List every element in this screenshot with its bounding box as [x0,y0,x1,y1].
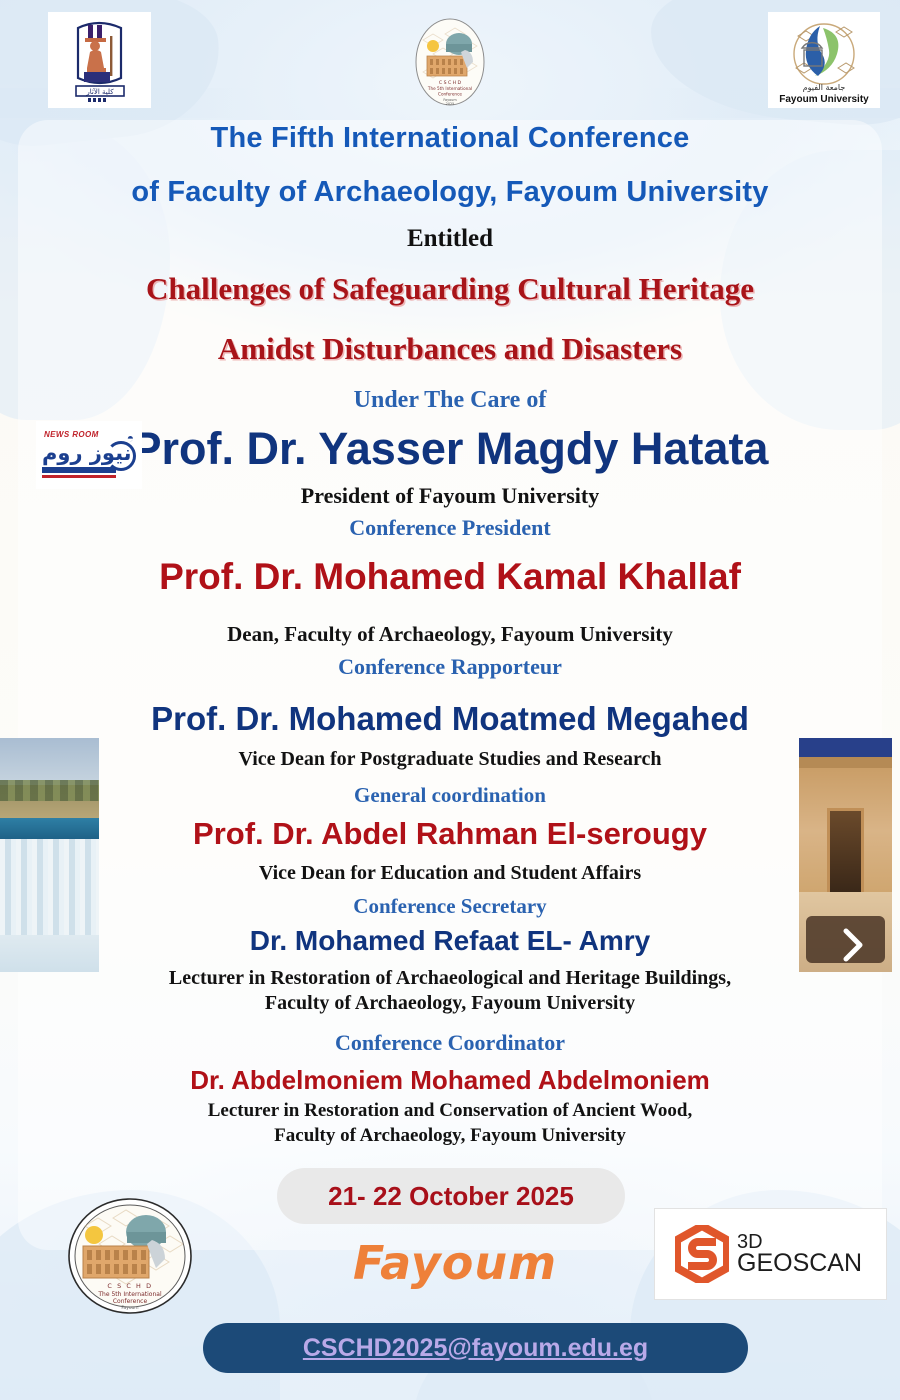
person-position-4: Vice Dean for Education and Student Affa… [0,862,900,885]
conference-theme-line1: Challenges of Safeguarding Cultural Heri… [0,271,900,307]
conference-title-line1: The Fifth International Conference [0,122,900,155]
person-name-2: Prof. Dr. Mohamed Kamal Khallaf [0,556,900,598]
news-room-top-text: NEWS ROOM [44,430,99,439]
geoscan-hex-icon [675,1225,729,1283]
conference-seal-logo: C S C H D The 5th International Conferen… [411,16,489,108]
news-room-arabic-text: نيوز روم [42,441,132,465]
conference-date-badge: 21- 22 October 2025 [277,1168,625,1224]
logo-row: كلية الآثار [0,0,900,115]
seal-large-acronym: C S C H D [107,1282,152,1290]
seal-large-line2: Conference [113,1298,148,1305]
chevron-right-icon[interactable] [840,928,866,962]
person-name-5: Dr. Mohamed Refaat EL- Amry [0,925,900,957]
news-room-bar-accent [42,475,116,478]
news-room-bar [42,467,116,473]
waterfall-photo [0,738,99,972]
person-position-5: Lecturer in Restoration of Archaeologica… [0,966,900,1016]
seal-year: 2025 [446,102,455,106]
person-name-3: Prof. Dr. Mohamed Moatmed Megahed [0,700,900,738]
person-role-4: Conference Secretary [0,894,900,919]
person-position-5-line1: Lecturer in Restoration of Archaeologica… [0,966,900,991]
person-position-3: Vice Dean for Postgraduate Studies and R… [0,748,900,771]
geoscan-line2: GEOSCAN [737,1252,862,1276]
person-role-2: Conference Rapporteur [0,654,900,680]
person-position-5-line2: Faculty of Archaeology, Fayoum Universit… [0,991,900,1016]
person-role-3: General coordination [0,783,900,808]
person-name-4: Prof. Dr. Abdel Rahman El-serougy [0,816,900,852]
under-the-care-of-label: Under The Care of [0,387,900,414]
seal-large-place: Fayoum [121,1305,138,1311]
person-position-2: Dean, Faculty of Archaeology, Fayoum Uni… [0,622,900,647]
city-brand-label: Fayoum [340,1236,570,1290]
conference-poster: كلية الآثار [0,0,900,1400]
person-role-5: Conference Coordinator [0,1030,900,1056]
faculty-of-archaeology-logo: كلية الآثار [48,12,151,108]
news-room-watermark: NEWS ROOM ◓ نيوز روم [36,421,142,489]
contact-email-badge[interactable]: CSCHD2025@fayoum.edu.eg [203,1323,748,1373]
person-position-6-line1: Lecturer in Restoration and Conservation… [0,1098,900,1123]
conference-theme-line2: Amidst Disturbances and Disasters [0,331,900,367]
uni-logo-arabic-caption: جامعة الفيوم [803,83,846,92]
uni-logo-english-caption: Fayoum University [779,94,869,105]
seal-line2: Conference [438,92,462,97]
fayoum-university-logo: جامعة الفيوم Fayoum University [768,12,880,108]
person-position-6: Lecturer in Restoration and Conservation… [0,1098,900,1148]
seal-large-line1: The 5th International [97,1291,162,1298]
seal-line1: The 5th International [427,86,472,91]
contact-email-link[interactable]: CSCHD2025@fayoum.edu.eg [303,1334,648,1363]
conference-title-line2: of Faculty of Archaeology, Fayoum Univer… [0,176,900,209]
person-name-6: Dr. Abdelmoniem Mohamed Abdelmoniem [0,1065,900,1096]
conference-date: 21- 22 October 2025 [328,1181,574,1212]
faculty-logo-arabic-caption: كلية الآثار [85,87,114,96]
3d-geoscan-logo: 3D GEOSCAN [654,1208,887,1300]
person-role-1: Conference President [0,515,900,541]
conference-seal-logo-large: C S C H D The 5th International Conferen… [47,1196,213,1316]
entitled-label: Entitled [0,225,900,253]
person-position-6-line2: Faculty of Archaeology, Fayoum Universit… [0,1123,900,1148]
